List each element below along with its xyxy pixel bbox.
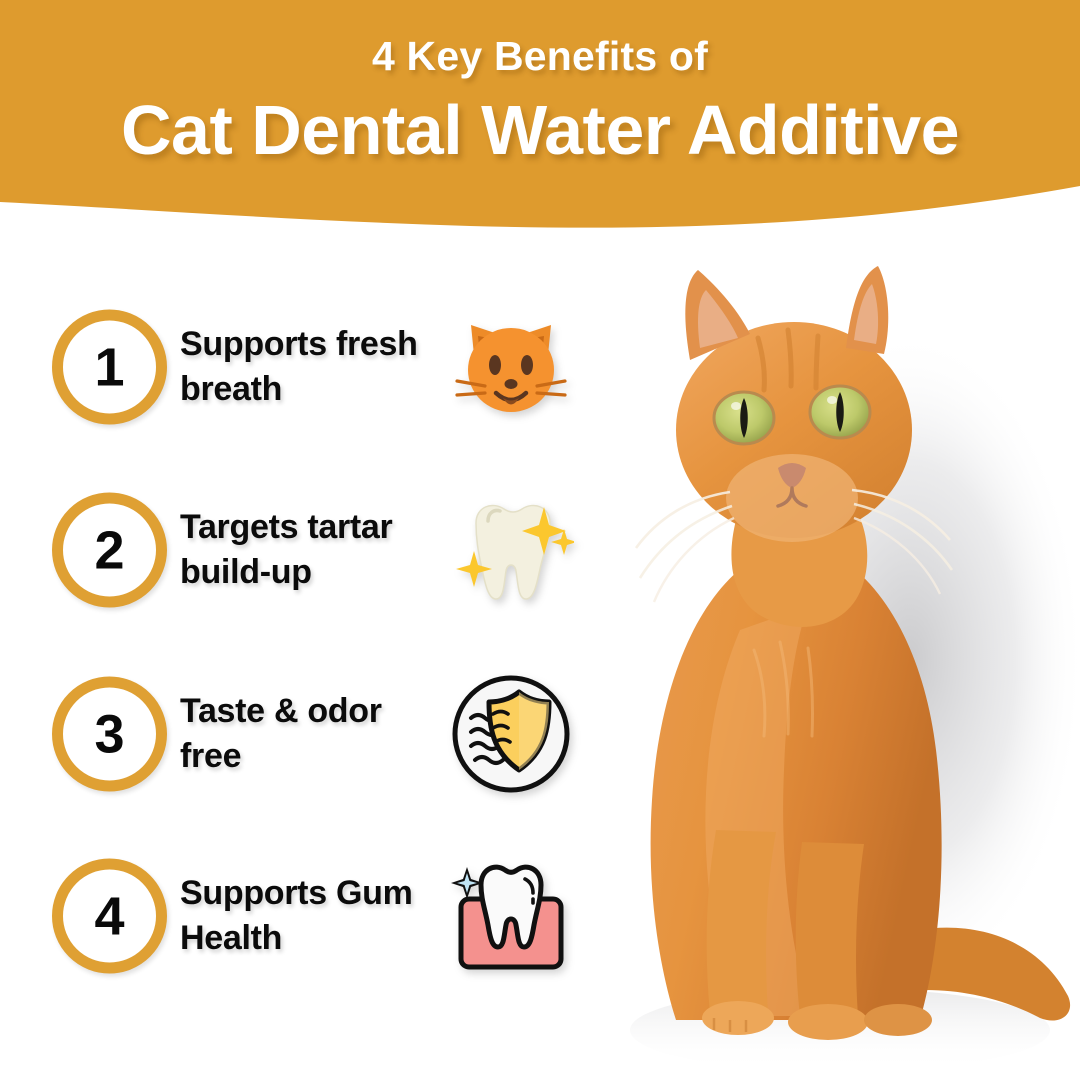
cat-photo	[540, 230, 1080, 1080]
benefit-item-1: 1 Supports fresh breath	[0, 292, 600, 442]
benefit-label-4: Supports Gum Health	[180, 871, 448, 961]
benefits-list: 1 Supports fresh breath	[0, 258, 600, 1018]
benefit-number-badge-1: 1	[52, 310, 167, 425]
header-text-block: 4 Key Benefits of Cat Dental Water Addit…	[0, 0, 1080, 169]
page-title: Cat Dental Water Additive	[0, 93, 1080, 169]
benefit-number-badge-3: 3	[52, 677, 167, 792]
benefit-label-3: Taste & odor free	[180, 689, 448, 779]
benefit-item-2: 2 Targets tartar build-up	[0, 475, 600, 625]
benefit-item-3: 3 Taste & odor free	[0, 659, 600, 809]
infographic-canvas: 4 Key Benefits of Cat Dental Water Addit…	[0, 0, 1080, 1080]
benefit-item-4: 4 Supports Gum Health	[0, 841, 600, 991]
benefit-label-2: Targets tartar build-up	[180, 505, 448, 595]
benefit-label-1: Supports fresh breath	[180, 322, 448, 412]
header-banner: 4 Key Benefits of Cat Dental Water Addit…	[0, 0, 1080, 240]
benefit-number-badge-2: 2	[52, 493, 167, 608]
header-kicker: 4 Key Benefits of	[0, 36, 1080, 77]
benefit-number-badge-4: 4	[52, 859, 167, 974]
